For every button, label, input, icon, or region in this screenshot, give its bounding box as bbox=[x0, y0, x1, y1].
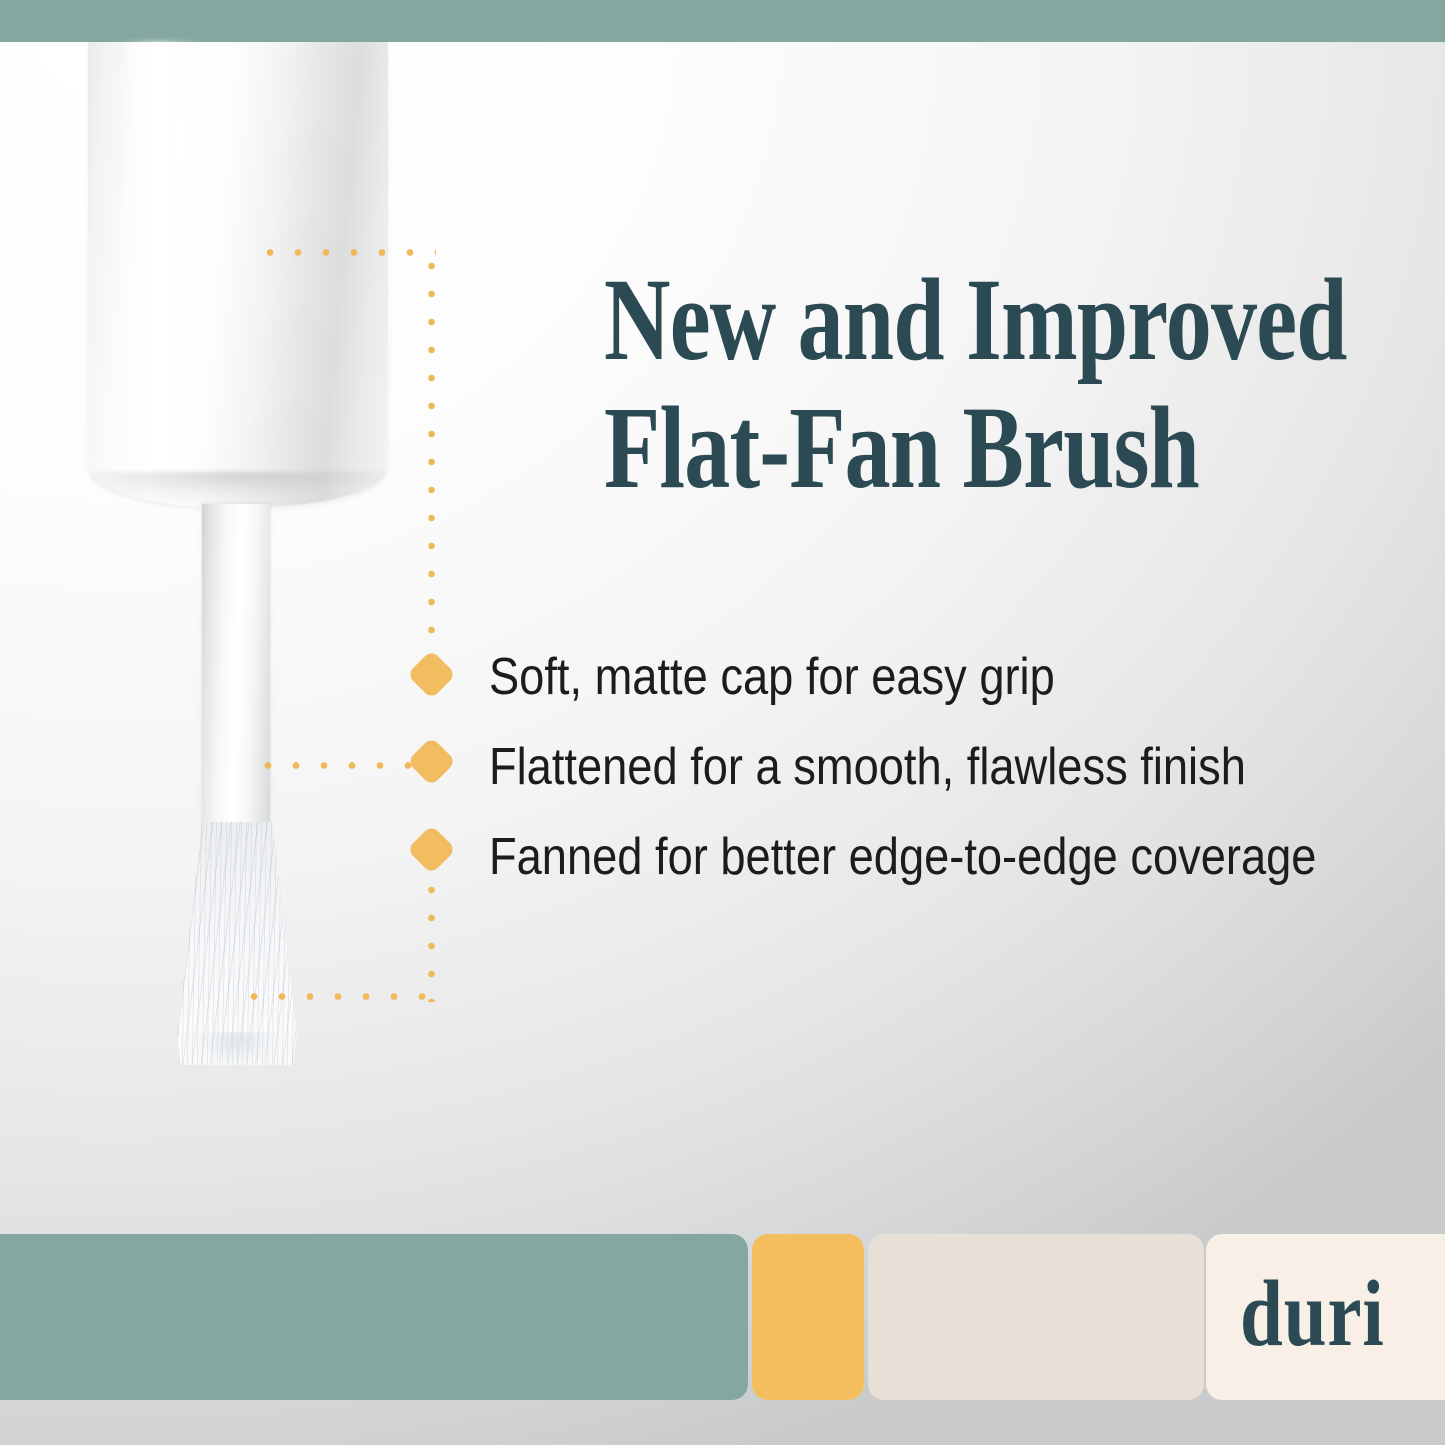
brand-bar bbox=[0, 1234, 1445, 1400]
list-item: Flattened for a smooth, flawless finish bbox=[404, 738, 1414, 828]
top-sage-bar bbox=[0, 0, 1445, 42]
connector-line-3-horizontal bbox=[240, 991, 438, 1002]
feature-list: Soft, matte cap for easy grip Flattened … bbox=[404, 648, 1414, 918]
list-item: Soft, matte cap for easy grip bbox=[404, 648, 1414, 738]
connector-line-1-horizontal bbox=[256, 247, 436, 258]
brush-bristle-tip bbox=[176, 1032, 298, 1076]
list-item: Fanned for better edge-to-edge coverage bbox=[404, 828, 1414, 918]
product-photo-brush bbox=[0, 42, 470, 1202]
headline: New and Improved Flat-Fan Brush bbox=[604, 256, 1236, 512]
brush-cap-shadow bbox=[90, 472, 386, 508]
headline-line-1: New and Improved bbox=[604, 254, 1347, 385]
brush-ferrule bbox=[202, 504, 270, 826]
feature-text-3: Fanned for better edge-to-edge coverage bbox=[489, 828, 1316, 886]
connector-line-1-vertical bbox=[426, 252, 437, 664]
product-feature-graphic: New and Improved Flat-Fan Brush Soft, ma… bbox=[0, 0, 1445, 1445]
brush-cap-highlight bbox=[118, 42, 204, 482]
brand-bar-green-segment bbox=[0, 1234, 748, 1400]
feature-text-1: Soft, matte cap for easy grip bbox=[489, 648, 1055, 706]
brand-logo: duri bbox=[1240, 1266, 1385, 1362]
brand-bar-amber-segment bbox=[752, 1234, 864, 1400]
brand-bar-beige-segment bbox=[868, 1234, 1204, 1400]
feature-text-2: Flattened for a smooth, flawless finish bbox=[489, 738, 1246, 796]
headline-line-2: Flat-Fan Brush bbox=[604, 384, 1236, 512]
